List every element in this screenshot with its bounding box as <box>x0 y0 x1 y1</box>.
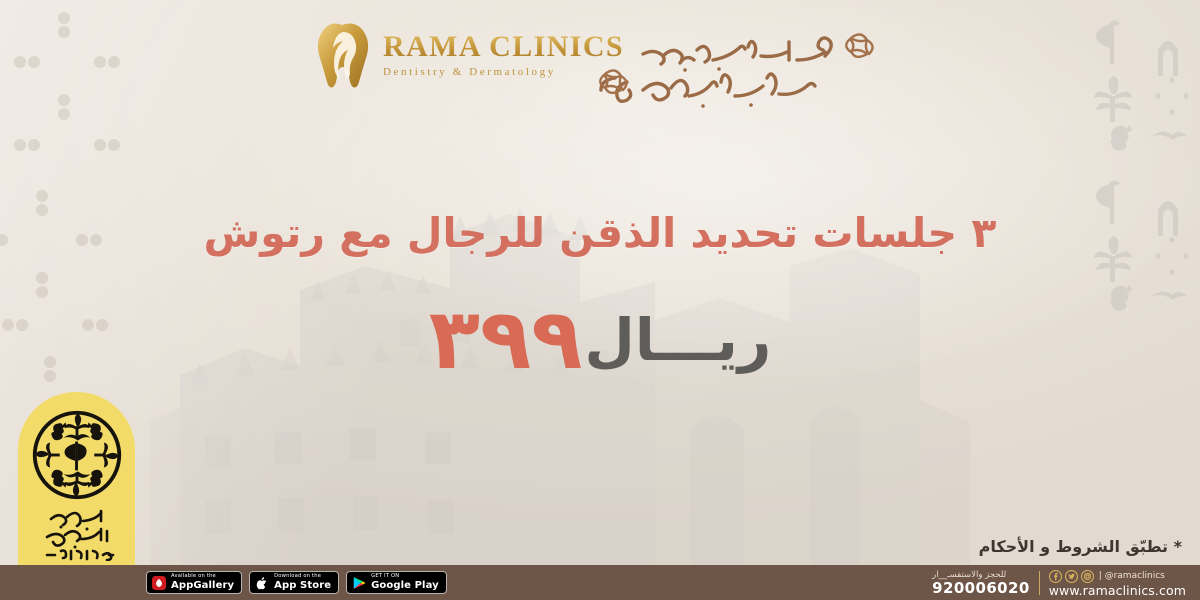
googleplay-badge[interactable]: GET IT ON Google Play <box>346 571 447 594</box>
tooth-face-logo-icon <box>313 22 371 88</box>
appstore-badge[interactable]: Download on the App Store <box>249 571 339 594</box>
appgallery-large-label: AppGallery <box>171 581 234 591</box>
advertisement-banner: RAMA CLINICS Dentistry & Dermatology يوم… <box>0 0 1200 600</box>
facebook-icon[interactable] <box>1049 570 1062 583</box>
huawei-appgallery-icon <box>152 576 166 590</box>
appstore-large-label: App Store <box>274 581 331 591</box>
social-handle: | @ramaclinics <box>1099 572 1165 581</box>
website-url[interactable]: www.ramaclinics.com <box>1049 585 1186 598</box>
price-unit: ريـــال <box>585 306 772 374</box>
appstore-small-label: Download on the <box>274 574 331 579</box>
contact-info: | @ramaclinics www.ramaclinics.com للحجز… <box>932 570 1186 598</box>
foundation-day-title: يوم التأسيس <box>35 505 119 561</box>
instagram-icon[interactable] <box>1081 570 1094 583</box>
header: RAMA CLINICS Dentistry & Dermatology يوم… <box>0 0 1200 120</box>
terms-and-conditions-note: * تطبّق الشروط و الأحكام <box>979 537 1182 556</box>
appgallery-badge[interactable]: Available on the AppGallery <box>146 571 242 594</box>
phone-block: للحجز والاستفسـ__ار 920006020 <box>932 571 1030 596</box>
twitter-icon[interactable] <box>1065 570 1078 583</box>
googleplay-small-label: GET IT ON <box>371 574 439 579</box>
foundation-day-seal-icon <box>29 407 125 503</box>
offer-price: ريـــال ٣٩٩ <box>0 300 1200 380</box>
googleplay-large-label: Google Play <box>371 581 439 591</box>
phone-number[interactable]: 920006020 <box>932 581 1030 596</box>
apple-appstore-icon <box>255 576 269 590</box>
social-block: | @ramaclinics www.ramaclinics.com <box>1049 570 1186 598</box>
app-store-badges: Available on the AppGallery Download on … <box>146 571 447 594</box>
price-value: ٣٩٩ <box>429 300 583 380</box>
brand-logo: RAMA CLINICS Dentistry & Dermatology <box>313 22 624 88</box>
social-icons: | @ramaclinics <box>1049 570 1165 583</box>
offer-headline: ٣ جلسات تحديد الذقن للرجال مع رتوش <box>0 208 1200 259</box>
contact-divider <box>1039 571 1040 595</box>
appgallery-small-label: Available on the <box>171 574 234 579</box>
arabic-calligraphy-slogan: يوم بدينا حاكينا جمالك <box>585 12 885 112</box>
google-play-icon <box>352 576 366 590</box>
